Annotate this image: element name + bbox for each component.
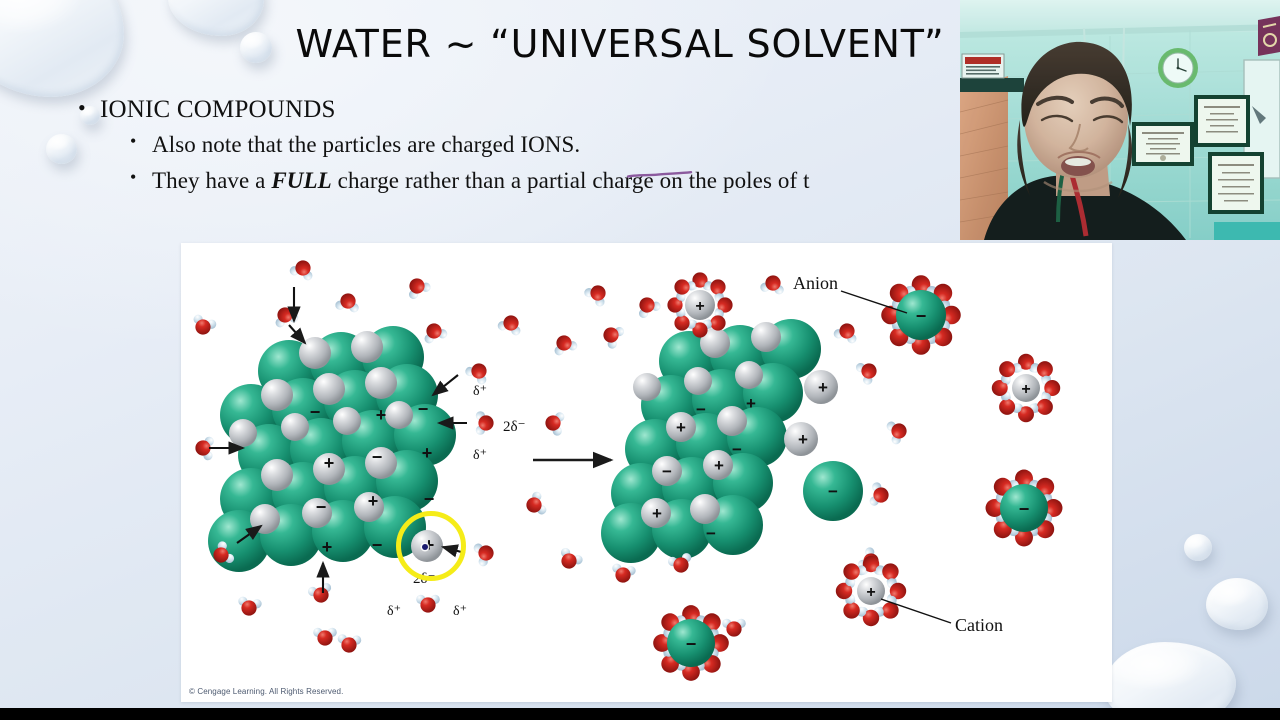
diagram-graphic: − + − + − + + − − + − + bbox=[181, 243, 1112, 702]
slide-title: WATER ~ “UNIVERSAL SOLVENT” bbox=[140, 22, 1100, 66]
webcam-frame bbox=[960, 0, 1280, 240]
anion-label: Anion bbox=[793, 273, 838, 293]
bullet-text-before: They have a bbox=[152, 168, 271, 193]
ion-charge-label: + bbox=[324, 453, 335, 473]
ion-charge-label: + bbox=[798, 430, 808, 449]
ion-charge-label: + bbox=[422, 443, 433, 463]
water-droplet-icon bbox=[1184, 534, 1212, 561]
ion-charge-label: − bbox=[828, 482, 838, 501]
ion-charge-label: + bbox=[746, 394, 756, 413]
bullet-text: IONIC COMPOUNDS bbox=[100, 96, 336, 123]
bullet-level1: IONIC COMPOUNDS bbox=[100, 96, 1000, 124]
ion-charge-label: − bbox=[316, 497, 327, 517]
ion-charge-label: + bbox=[322, 537, 333, 557]
water-droplet-icon bbox=[0, 0, 124, 97]
ion-charge-label: + bbox=[676, 418, 686, 437]
ion-charge-label: + bbox=[652, 504, 662, 523]
ion-charge-label: + bbox=[866, 584, 875, 601]
bullet-level2: They have a FULL charge rather than a pa… bbox=[152, 168, 1000, 194]
ion-charge-label: − bbox=[732, 440, 742, 459]
ion-charge-label: − bbox=[916, 306, 927, 326]
ion-charge-label: + bbox=[424, 535, 435, 555]
ion-charge-label: + bbox=[818, 378, 828, 397]
presentation-slide: WATER ~ “UNIVERSAL SOLVENT” IONIC COMPOU… bbox=[0, 0, 1280, 708]
water-droplet-icon bbox=[1104, 642, 1236, 708]
ion-charge-label: − bbox=[424, 489, 435, 509]
hydrated-cation: + bbox=[992, 354, 1060, 422]
ion-charge-label: − bbox=[372, 535, 383, 555]
ion-charge-label: + bbox=[1021, 381, 1030, 398]
ion-charge-label: + bbox=[376, 405, 387, 425]
bullet-level2: Also note that the particles are charged… bbox=[152, 132, 1000, 158]
copyright-notice: © Cengage Learning. All Rights Reserved. bbox=[189, 687, 343, 696]
ion-charge-label: + bbox=[368, 491, 379, 511]
ion-charge-label: − bbox=[696, 400, 706, 419]
delta-plus-label: δ⁺ bbox=[473, 384, 487, 399]
ion-charge-label: − bbox=[706, 524, 716, 543]
two-delta-minus-label: 2δ⁻ bbox=[503, 419, 526, 435]
bullet-text: Also note that the particles are charged… bbox=[152, 132, 580, 157]
letterbox-bar bbox=[0, 708, 1280, 720]
ion-charge-label: − bbox=[310, 402, 321, 422]
hydrated-cation: + bbox=[667, 272, 732, 337]
ion-charge-label: − bbox=[418, 399, 429, 419]
water-droplet-icon bbox=[1206, 578, 1268, 630]
hydrated-anion: − bbox=[986, 470, 1063, 547]
two-delta-minus-label: 2δ⁻ bbox=[413, 571, 436, 587]
hydrated-cation: + bbox=[836, 556, 906, 626]
ion-charge-label: − bbox=[662, 462, 672, 481]
cation-label: Cation bbox=[955, 615, 1003, 635]
ion-charge-label: + bbox=[695, 298, 704, 315]
delta-plus-label: δ⁺ bbox=[473, 448, 487, 463]
ion-charge-label: − bbox=[1019, 499, 1030, 519]
bullet-emphasis: FULL bbox=[271, 168, 331, 193]
delta-plus-label: δ⁺ bbox=[387, 604, 401, 619]
slide-body: IONIC COMPOUNDS Also note that the parti… bbox=[0, 96, 1000, 204]
ion-charge-label: − bbox=[686, 634, 697, 654]
ion-charge-label: + bbox=[714, 456, 724, 475]
bullet-text-after: charge rather than a partial charge on t… bbox=[332, 168, 810, 193]
dissolution-diagram: − + − + − + + − − + − + bbox=[181, 243, 1112, 702]
webcam-video-overlay[interactable] bbox=[960, 0, 1280, 240]
hydrated-anion: − bbox=[881, 275, 961, 355]
hydrated-anion: − bbox=[653, 605, 729, 681]
video-frame: WATER ~ “UNIVERSAL SOLVENT” IONIC COMPOU… bbox=[0, 0, 1280, 720]
ion-charge-label: − bbox=[372, 447, 383, 467]
delta-plus-label: δ⁺ bbox=[453, 604, 467, 619]
